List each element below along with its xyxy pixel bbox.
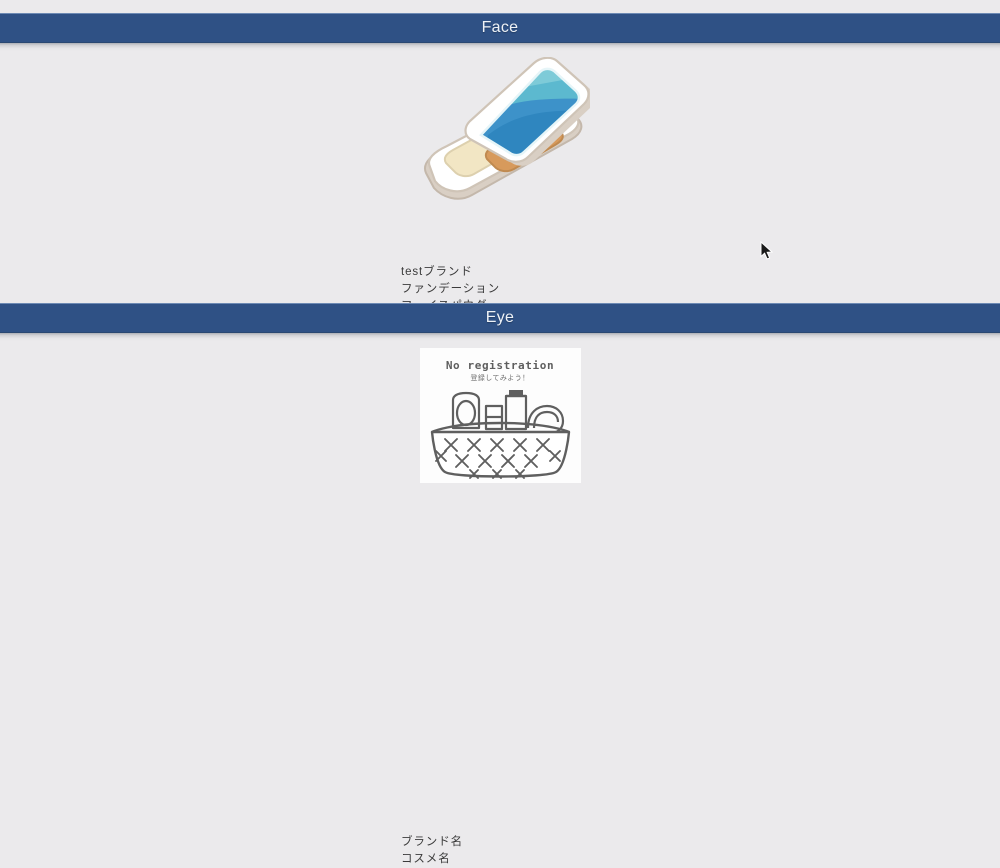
- item-line-brand: testブランド: [401, 264, 500, 281]
- item-line-brand-placeholder: ブランド名: [401, 834, 463, 851]
- category-title-eye: Eye: [486, 310, 514, 326]
- item-text-eye[interactable]: ブランド名 コスメ名: [401, 834, 463, 868]
- thumbnail-wrap-eye: No registration 登録してみよう！: [0, 342, 1000, 483]
- category-header-face[interactable]: Face: [0, 13, 1000, 43]
- cosmetic-list-page: Face: [0, 0, 1000, 546]
- header-shadow-eye: [0, 333, 1000, 342]
- category-header-eye[interactable]: Eye: [0, 303, 1000, 333]
- no-registration-title: No registration: [420, 359, 581, 372]
- category-title-face: Face: [482, 20, 519, 36]
- no-registration-placeholder-icon[interactable]: No registration 登録してみよう！: [420, 348, 581, 483]
- item-line-product-placeholder: コスメ名: [401, 851, 463, 868]
- item-line-type: ファンデーション: [401, 281, 500, 298]
- top-spacer: [0, 0, 1000, 13]
- compact-powder-icon[interactable]: [410, 57, 590, 212]
- section-body-eye: No registration 登録してみよう！: [0, 342, 1000, 546]
- thumbnail-wrap-face: [0, 52, 1000, 212]
- section-body-face: testブランド ファンデーション フェイスパウダー ユーザー1: [0, 52, 1000, 303]
- cosmetic-pouch-icon: [420, 382, 581, 482]
- header-shadow-face: [0, 43, 1000, 52]
